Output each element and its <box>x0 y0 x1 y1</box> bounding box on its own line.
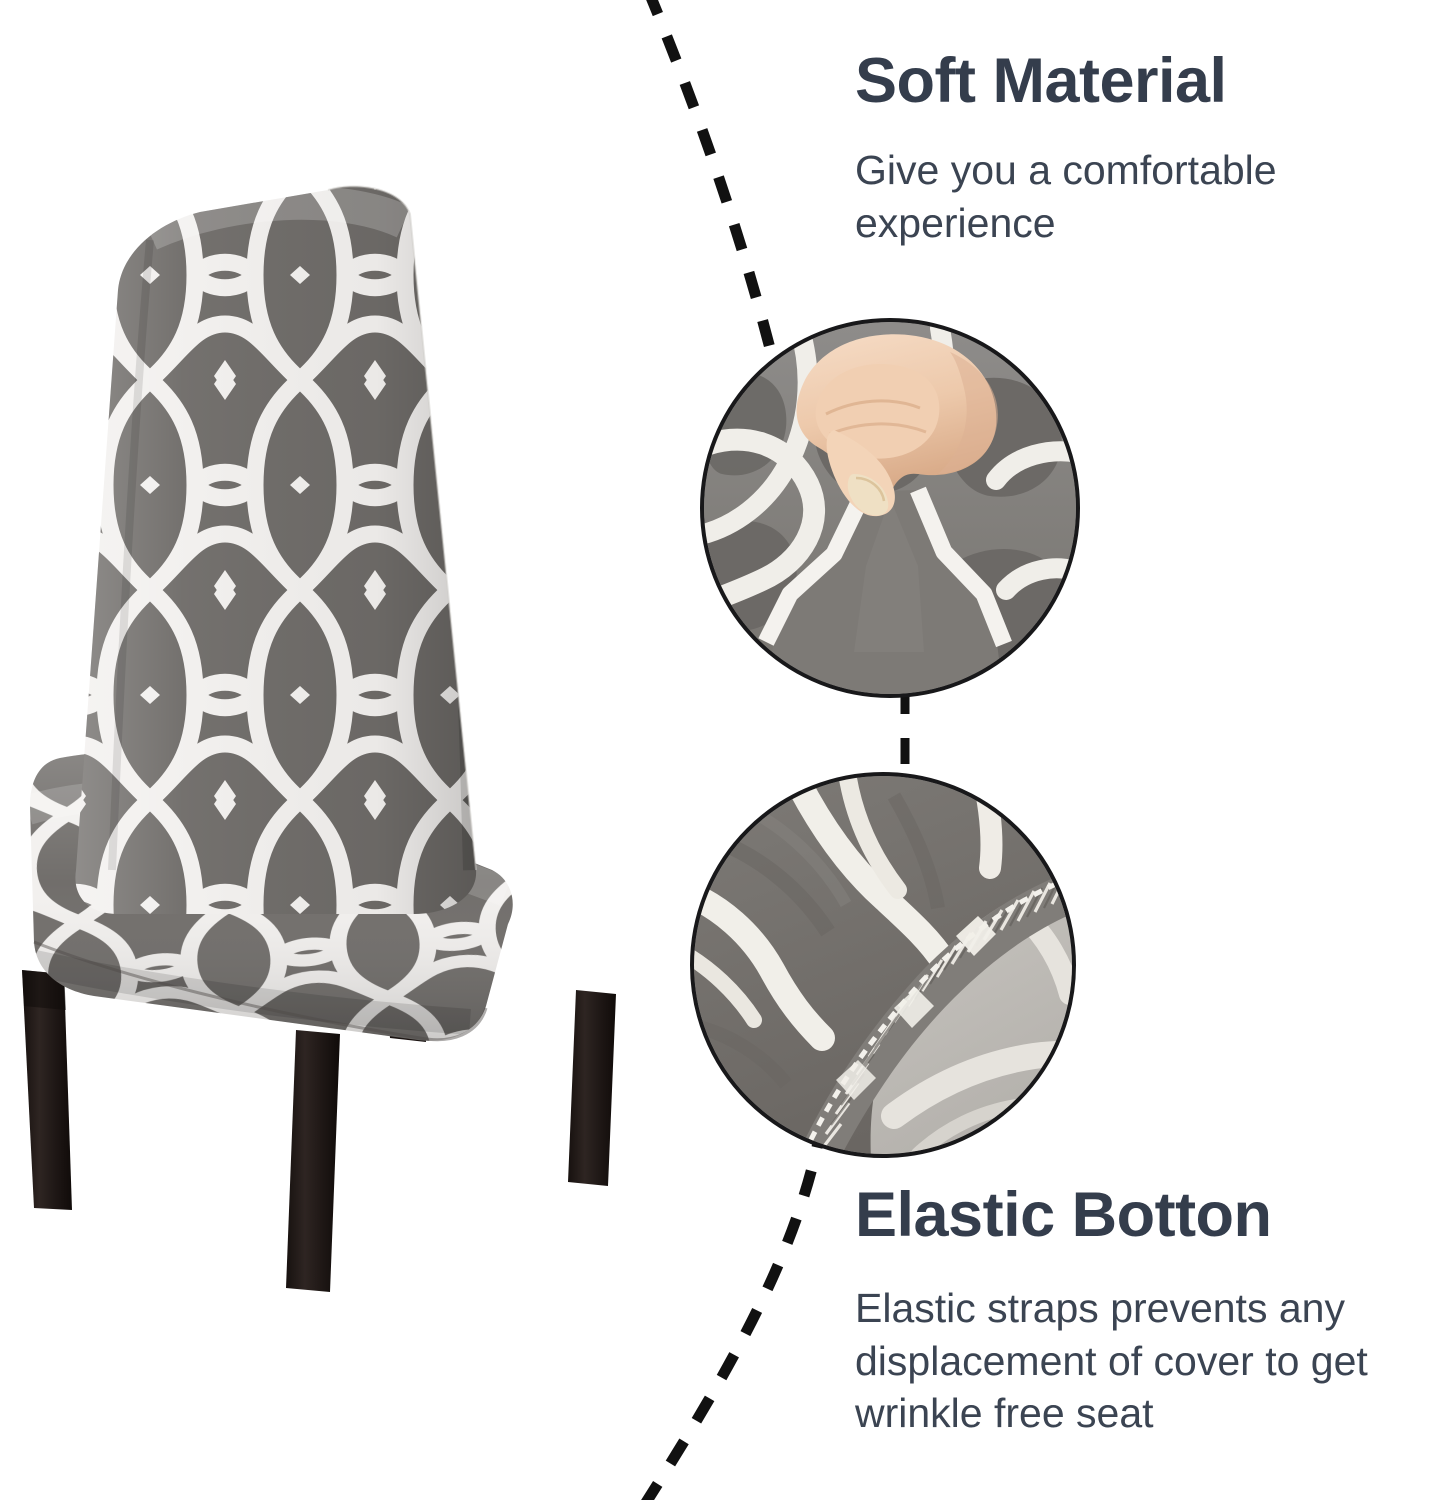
elastic-hem-closeup <box>690 772 1076 1158</box>
dining-chair-slipcover <box>0 170 660 1320</box>
product-infographic: Soft Material Give you a comfortable exp… <box>0 0 1429 1500</box>
elastic-bottom-headline: Elastic Botton <box>855 1182 1415 1248</box>
hand-pinching-fabric-icon <box>704 322 1076 694</box>
soft-material-subcopy: Give you a comfortable experience <box>855 144 1395 249</box>
dashed-connector <box>880 686 930 782</box>
soft-material-feature: Soft Material Give you a comfortable exp… <box>855 48 1395 249</box>
chair-illustration <box>0 170 660 1320</box>
chair-backrest <box>60 170 500 930</box>
elastic-bottom-subcopy: Elastic straps prevents any displacement… <box>855 1282 1415 1439</box>
soft-material-headline: Soft Material <box>855 48 1395 114</box>
elastic-gathered-hem-icon <box>694 776 1072 1154</box>
elastic-bottom-feature: Elastic Botton Elastic straps prevents a… <box>855 1182 1415 1440</box>
fabric-stretch-closeup <box>700 318 1080 698</box>
